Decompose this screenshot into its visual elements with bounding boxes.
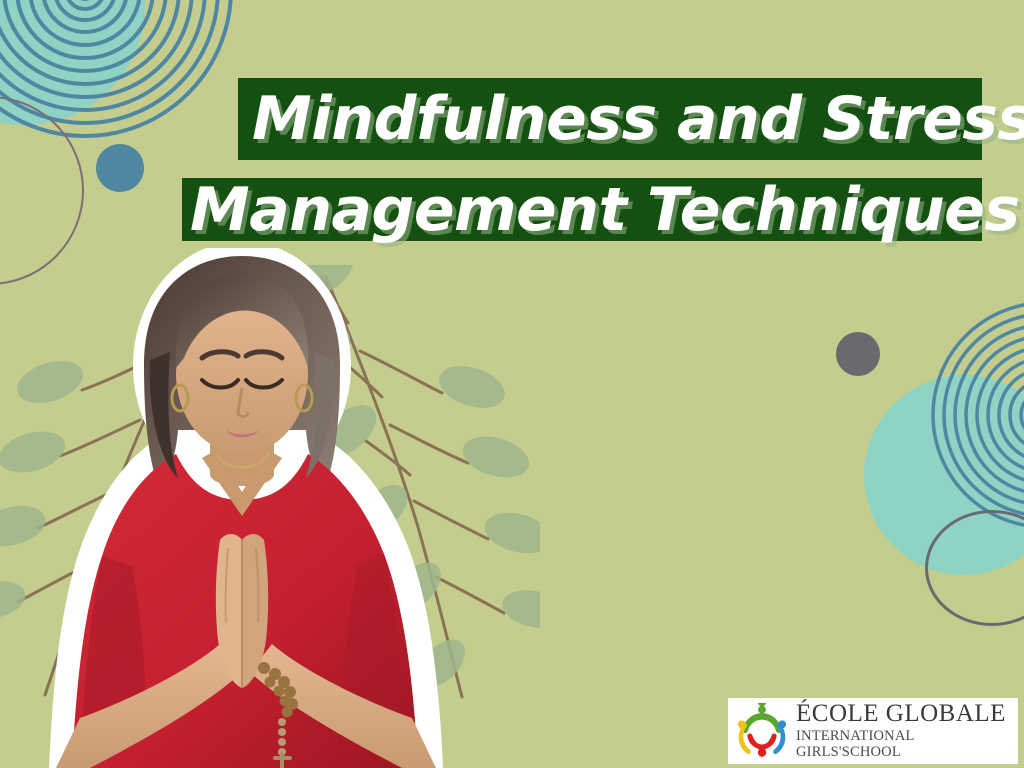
decorative-dot-gray-right: [836, 332, 880, 376]
decorative-circle-teal-topleft: [0, 0, 145, 125]
logo-text-block: ÉCOLE GLOBALE INTERNATIONAL GIRLS'SCHOOL: [796, 701, 1018, 760]
logo-panel: ÉCOLE GLOBALE INTERNATIONAL GIRLS'SCHOOL: [728, 698, 1018, 764]
title-line-2: Management Techniques: [182, 178, 982, 241]
poster-canvas: Mindfulness and Stress Management Techni…: [0, 0, 1024, 768]
decorative-concentric-rings-right: [930, 300, 1024, 530]
meditating-woman-photo: [20, 248, 460, 768]
title-line-1: Mindfulness and Stress: [238, 78, 982, 160]
decorative-circle-outline-right: [925, 510, 1024, 626]
logo-name: ÉCOLE GLOBALE: [796, 701, 1018, 727]
decorative-dot-blue-topleft: [96, 144, 144, 192]
decorative-circle-teal-right: [864, 375, 1024, 575]
ecole-globale-logo-icon: [734, 703, 790, 759]
logo-tagline: INTERNATIONAL GIRLS'SCHOOL: [796, 729, 1018, 761]
decorative-concentric-rings-topleft: [0, 0, 235, 140]
